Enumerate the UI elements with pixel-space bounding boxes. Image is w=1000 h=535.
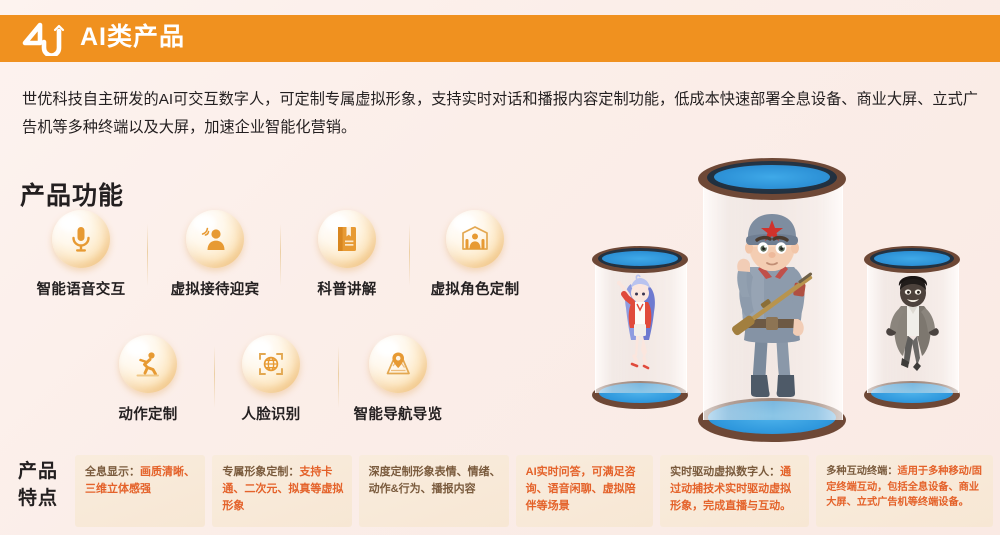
feature-orb: [318, 210, 376, 268]
holographic-devices-illustration: [592, 150, 1000, 445]
highlights-label-line2: 特点: [18, 485, 70, 512]
highlight-card-list: 全息显示：画质清晰、三维立体感强 专属形象定制：支持卡通、二次元、拟真等虚拟形象…: [75, 455, 993, 527]
feature-item-face[interactable]: 人脸识别: [206, 335, 336, 424]
face-scan-icon: [257, 350, 285, 378]
feature-orb: [52, 210, 110, 268]
feature-item-reception[interactable]: 虚拟接待迎宾: [150, 210, 280, 299]
highlight-lead: 全息显示：: [85, 466, 140, 478]
feature-orb: [369, 335, 427, 393]
feature-item-explain[interactable]: 科普讲解: [282, 210, 412, 299]
highlights-label-line1: 产品: [18, 458, 70, 485]
running-person-icon: [134, 350, 162, 378]
product-highlights-label: 产品 特点: [18, 458, 70, 512]
businessman-avatar: [884, 276, 942, 376]
highlight-plain: AI实时问答，可满足咨询、语音闲聊、虚拟陪伴等场景: [526, 466, 636, 512]
feature-label: 智能导航导览: [333, 403, 463, 424]
cylinder-top-glow: [874, 251, 950, 266]
feature-orb: [242, 335, 300, 393]
product-functions-title: 产品功能: [20, 176, 124, 212]
feature-label: 动作定制: [83, 403, 213, 424]
feature-label: 智能语音交互: [16, 278, 146, 299]
page-title: AI类产品: [80, 25, 185, 52]
feature-label: 人脸识别: [206, 403, 336, 424]
feature-label: 虚拟接待迎宾: [150, 278, 280, 299]
grid-divider: [147, 224, 148, 286]
4u-brand-logo-icon: [22, 22, 68, 56]
product-highlights-bar: 产品 特点 全息显示：画质清晰、三维立体感强 专属形象定制：支持卡通、二次元、拟…: [0, 452, 1000, 535]
holographic-cylinder-left: [592, 244, 688, 416]
highlight-lead: 多种互动终端：: [826, 466, 897, 477]
book-icon: [335, 225, 359, 253]
highlight-card[interactable]: 多种互动终端：适用于多种移动/固定终端互动，包括全息设备、商业大屏、立式广告机等…: [816, 455, 993, 527]
highlight-card[interactable]: 全息显示：画质清晰、三维立体感强: [75, 455, 205, 527]
cylinder-top-glow: [714, 165, 830, 189]
holographic-cylinder-right: [864, 244, 960, 416]
feature-orb: [119, 335, 177, 393]
feature-label: 虚拟角色定制: [410, 278, 540, 299]
anime-girl-avatar: [611, 274, 669, 376]
feature-item-motion[interactable]: 动作定制: [83, 335, 213, 424]
feature-orb: [446, 210, 504, 268]
highlight-plain: 深度定制形象表情、情绪、动作&行为、播报内容: [369, 466, 501, 495]
feature-item-navigation[interactable]: 智能导航导览: [333, 335, 463, 424]
microphone-icon: [68, 225, 94, 253]
highlight-card[interactable]: AI实时问答，可满足咨询、语音闲聊、虚拟陪伴等场景: [516, 455, 654, 527]
map-pin-icon: [384, 350, 412, 378]
page-header: AI类产品: [0, 15, 1000, 62]
cylinder-top-glow: [602, 251, 678, 266]
highlight-lead: 实时驱动虚拟数字人：: [670, 466, 780, 478]
page-root: AI类产品 世优科技自主研发的AI可交互数字人，可定制专属虚拟形象，支持实时对话…: [0, 0, 1000, 535]
highlight-card[interactable]: 专属形象定制：支持卡通、二次元、拟真等虚拟形象: [212, 455, 351, 527]
character-group-icon: [461, 225, 489, 253]
grid-divider: [280, 224, 281, 286]
receptionist-icon: [201, 226, 229, 252]
highlight-card[interactable]: 实时驱动虚拟数字人：通过动捕技术实时驱动虚拟形象，完成直播与互动。: [660, 455, 809, 527]
feature-item-voice[interactable]: 智能语音交互: [16, 210, 146, 299]
feature-orb: [186, 210, 244, 268]
feature-item-character[interactable]: 虚拟角色定制: [410, 210, 540, 299]
highlight-card[interactable]: 深度定制形象表情、情绪、动作&行为、播报内容: [359, 455, 509, 527]
soldier-avatar: [720, 207, 824, 403]
feature-label: 科普讲解: [282, 278, 412, 299]
intro-paragraph: 世优科技自主研发的AI可交互数字人，可定制专属虚拟形象，支持实时对话和播报内容定…: [22, 86, 978, 142]
highlight-lead: 专属形象定制：: [222, 466, 299, 478]
feature-grid: 智能语音交互 虚拟接待迎宾: [8, 210, 548, 440]
holographic-cylinder-center: [698, 154, 846, 442]
